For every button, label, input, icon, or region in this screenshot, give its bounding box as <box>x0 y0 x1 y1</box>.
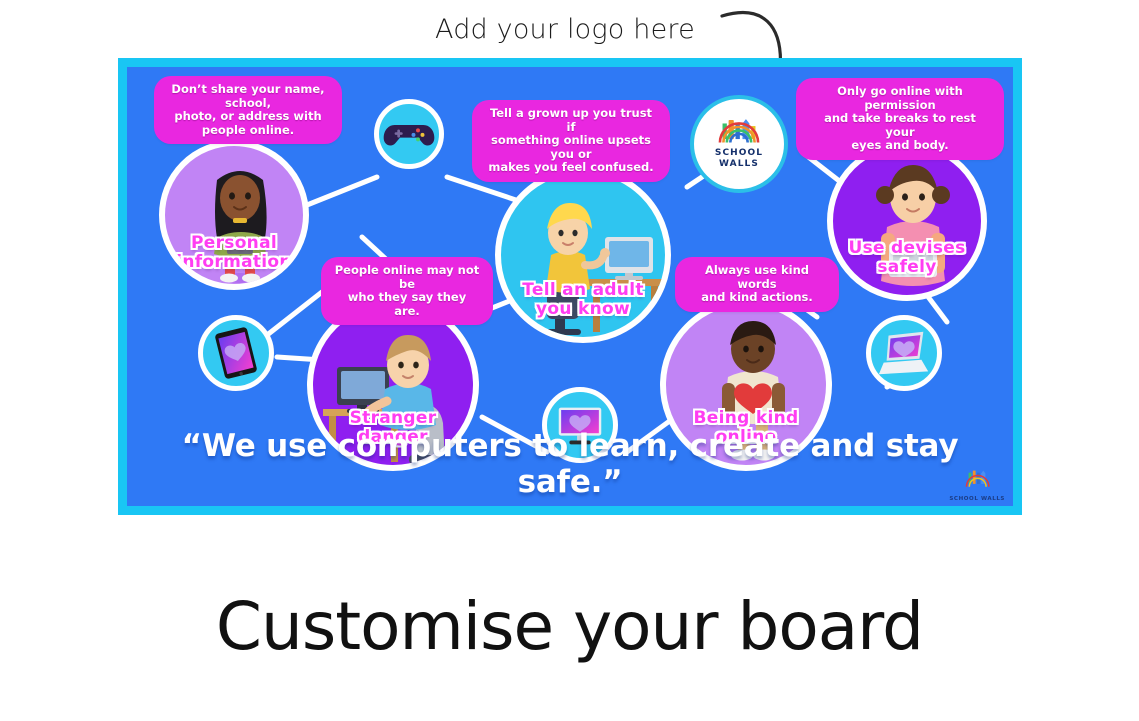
annotation-layer: Add your logo here <box>0 0 1139 60</box>
school-walls-mark-icon <box>963 468 991 490</box>
tablet-heart-icon <box>207 324 265 382</box>
logo-word-walls: WALLS <box>719 159 759 170</box>
logo-word-school: SCHOOL <box>715 148 763 159</box>
device-circle-game-controller[interactable] <box>374 99 444 169</box>
page-caption: Customise your board <box>0 588 1139 665</box>
add-logo-annotation-text: Add your logo here <box>435 14 695 45</box>
logo-placeholder-badge[interactable]: SCHOOL WALLS <box>690 95 788 193</box>
laptop-heart-icon <box>875 324 933 382</box>
watermark: SCHOOL WALLS <box>949 468 1005 502</box>
device-circle-tablet[interactable] <box>198 315 274 391</box>
game-controller-icon <box>382 107 436 161</box>
device-circle-laptop[interactable] <box>866 315 942 391</box>
callout-tell-an-adult: Tell a grown up you trust if something o… <box>475 103 667 179</box>
callout-being-kind-online: Always use kind words and kind actions. <box>678 260 836 309</box>
topic-circle-use-devises-safely[interactable]: Use devises safely <box>827 141 987 301</box>
topic-circle-tell-an-adult[interactable]: Tell an adult you know <box>495 167 671 343</box>
board-inner: Personal information <box>127 67 1013 506</box>
watermark-text: SCHOOL WALLS <box>949 496 1005 502</box>
callout-stranger-danger: People online may not be who they say th… <box>324 260 490 322</box>
callout-personal-information: Don’t share your name, school, photo, or… <box>157 79 339 141</box>
board-quote: “We use computers to learn, create and s… <box>127 428 1013 500</box>
topic-circle-personal-information[interactable]: Personal information <box>159 140 309 290</box>
callout-use-devises-safely: Only go online with permission and take … <box>799 81 1001 157</box>
display-board: Personal information <box>118 58 1022 515</box>
school-walls-logo-icon <box>713 118 765 148</box>
